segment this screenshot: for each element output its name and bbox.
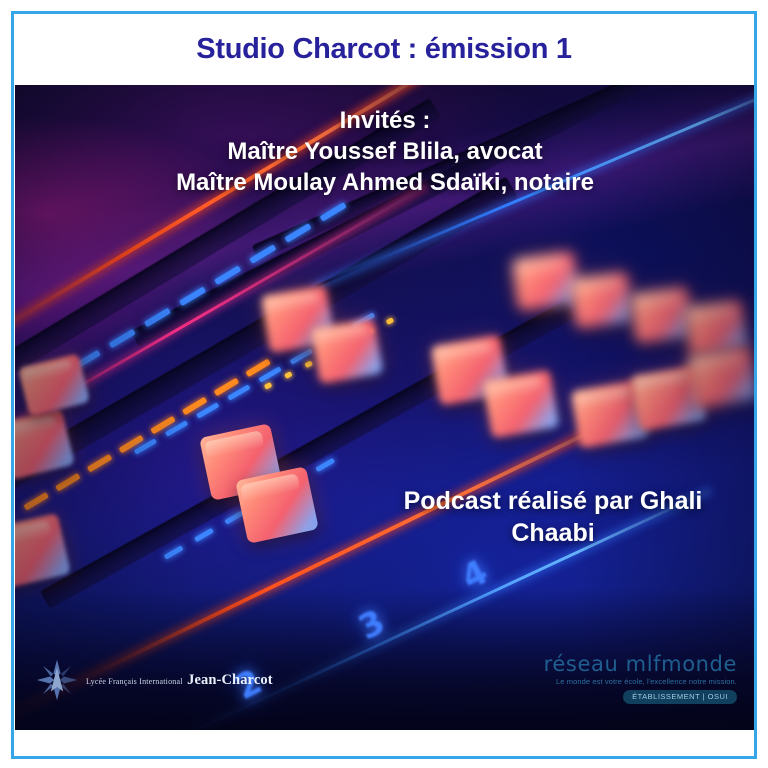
- guest-list-heading: Invités :: [15, 105, 755, 136]
- logo-mlf-tagline: Le monde est votre école, l'excellence n…: [544, 677, 737, 686]
- poster-frame: Studio Charcot : émission 1: [11, 11, 757, 759]
- console-photo: 2 3 4 Invités : Maître Youssef Blila, av…: [15, 85, 755, 730]
- logo-mlfmonde: réseau mlfmonde Le monde est votre école…: [544, 654, 737, 704]
- bottom-white-strip: [14, 730, 754, 756]
- guest-name-2: Maître Moulay Ahmed Sdaïki, notaire: [15, 167, 755, 198]
- producer-credit: Podcast réalisé par Ghali Chaabi: [367, 485, 739, 549]
- logo-charcot-words: Lycée Français International Jean-Charco…: [86, 671, 273, 689]
- logo-charcot-superline: Lycée Français International: [86, 677, 183, 686]
- logo-charcot-name: Jean-Charcot: [187, 672, 273, 688]
- guest-name-1: Maître Youssef Blila, avocat: [15, 136, 755, 167]
- title-bar: Studio Charcot : émission 1: [14, 14, 754, 85]
- compass-rose-icon: [35, 658, 79, 702]
- page-title: Studio Charcot : émission 1: [196, 33, 571, 66]
- logo-mlf-badge: ÉTABLISSEMENT | OSUI: [623, 690, 737, 704]
- logo-jean-charcot: Lycée Français International Jean-Charco…: [35, 658, 273, 702]
- logo-mlf-brand: réseau mlfmonde: [544, 654, 737, 675]
- guest-list: Invités : Maître Youssef Blila, avocat M…: [15, 105, 755, 199]
